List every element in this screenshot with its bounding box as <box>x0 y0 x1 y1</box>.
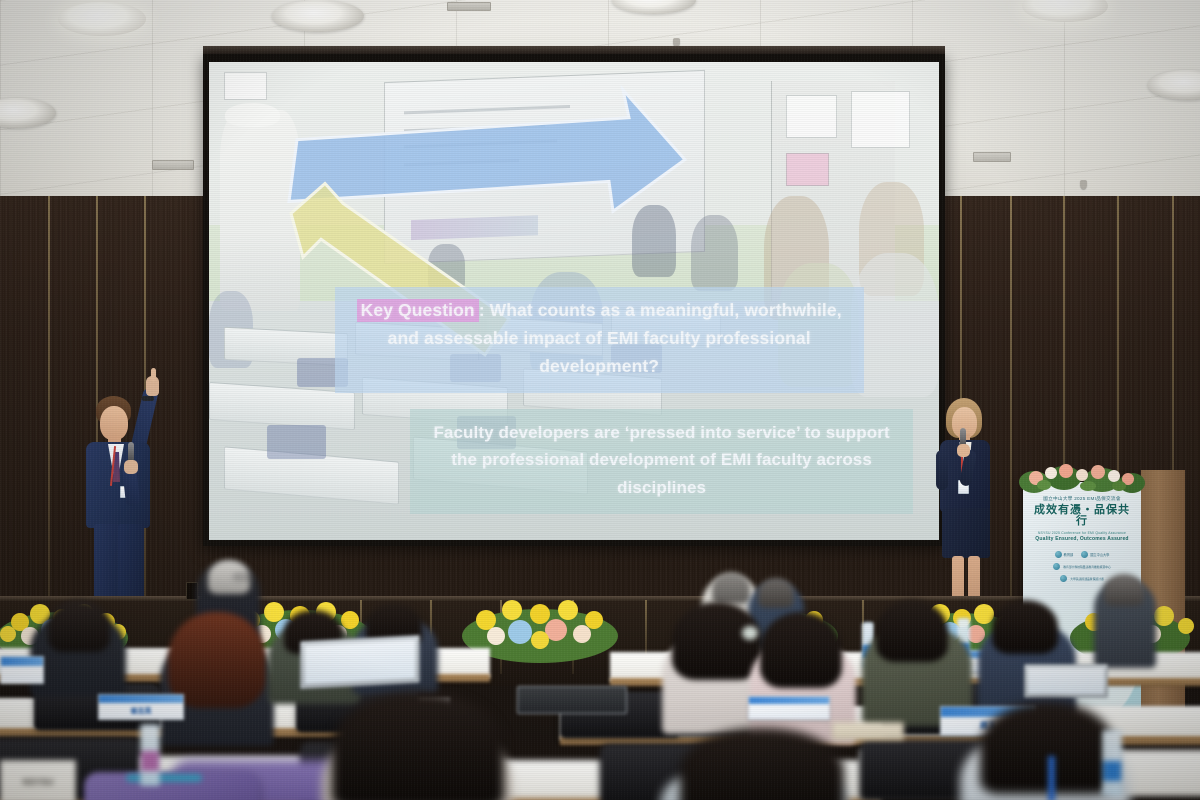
wall-panel-seam <box>48 196 50 616</box>
conference-hall-scene: Key Question: What counts as a meaningfu… <box>0 0 1200 800</box>
attendee-hair <box>332 692 504 800</box>
attendee-hair <box>876 600 948 662</box>
laptop-screen <box>1028 668 1104 694</box>
air-vent <box>447 2 491 11</box>
female-speaker-arm <box>936 450 948 490</box>
banner-line-3: NSYSU 2025 Conference for EMI Quality As… <box>1029 531 1135 535</box>
banner-line-1: 國立中山大學 2025 EMI品保交流會 <box>1029 496 1135 502</box>
logo-mark-icon <box>1055 551 1062 558</box>
attendee-hair <box>760 612 842 688</box>
ceiling-light <box>58 2 146 36</box>
attendee-hair <box>992 600 1058 654</box>
water-bottle <box>140 724 160 786</box>
notebook <box>832 722 904 740</box>
backpack-strap <box>126 774 202 782</box>
slide-key-question-block: Key Question: What counts as a meaningfu… <box>335 287 864 393</box>
nsysu-logo: 國立中山大學 <box>1081 551 1109 558</box>
attendee-hair <box>48 600 110 652</box>
laptop-screen <box>305 640 415 684</box>
slide-statement-text: Faculty developers are ‘pressed into ser… <box>433 423 889 497</box>
nsysu-logo-label: 國立中山大學 <box>1090 552 1109 557</box>
male-speaker-mic-hand <box>124 460 138 474</box>
placard-label: NSYSU <box>22 777 53 787</box>
key-question-highlight: Key Question <box>357 299 479 322</box>
wall-panel-seam <box>1010 196 1012 616</box>
podium-flower-arrangement <box>1018 452 1146 496</box>
attendee-glasses-icon <box>234 574 252 580</box>
attendee-hair <box>672 602 762 680</box>
ceiling-light <box>272 0 364 32</box>
attendee-hair <box>980 702 1114 794</box>
laptop[interactable] <box>1024 664 1108 698</box>
placard-label: 崔志英 <box>131 706 152 716</box>
name-placard: NSYSU <box>0 760 76 800</box>
banner-line-2: 成效有憑・品保共行 <box>1029 505 1135 528</box>
bottle-label <box>1103 761 1121 781</box>
name-placard <box>0 656 44 684</box>
blue-arrow <box>289 90 685 211</box>
male-speaker-microphone <box>128 442 134 462</box>
name-placard: 崔志英 <box>98 694 184 720</box>
moe-logo: 教育部 <box>1055 551 1074 558</box>
bottle-label <box>141 751 159 771</box>
audience-area: 趙玉 <box>0 560 1200 800</box>
sprinkler-head <box>1080 180 1087 189</box>
attendee-hair <box>758 578 794 608</box>
air-vent <box>152 160 194 170</box>
female-speaker-mic-hand <box>957 444 970 457</box>
attendee-hair <box>712 572 750 604</box>
projection-screen: Key Question: What counts as a meaningfu… <box>209 62 939 540</box>
male-speaker-head <box>100 406 128 440</box>
logo-mark-icon <box>1081 551 1088 558</box>
attendee-hair <box>1104 574 1144 606</box>
banner-line-4: Quality Ensured, Outcomes Assured <box>1029 536 1135 542</box>
laptop[interactable] <box>517 686 627 714</box>
banner-logo-row: 教育部 國立中山大學 <box>1029 551 1135 558</box>
projection-screen-frame: Key Question: What counts as a meaningfu… <box>203 54 945 546</box>
moe-logo-label: 教育部 <box>1064 552 1074 557</box>
male-speaker-watch <box>142 396 154 401</box>
female-speaker-skirt <box>942 508 990 558</box>
name-placard <box>748 696 830 720</box>
air-vent <box>973 152 1011 162</box>
lanyard <box>1048 756 1055 800</box>
slide-statement-block: Faculty developers are ‘pressed into ser… <box>410 409 914 515</box>
laptop[interactable] <box>300 635 420 689</box>
attendee-hair-tie <box>742 626 758 640</box>
male-speaker-index-finger <box>151 368 156 382</box>
water-bottle <box>1102 730 1122 796</box>
